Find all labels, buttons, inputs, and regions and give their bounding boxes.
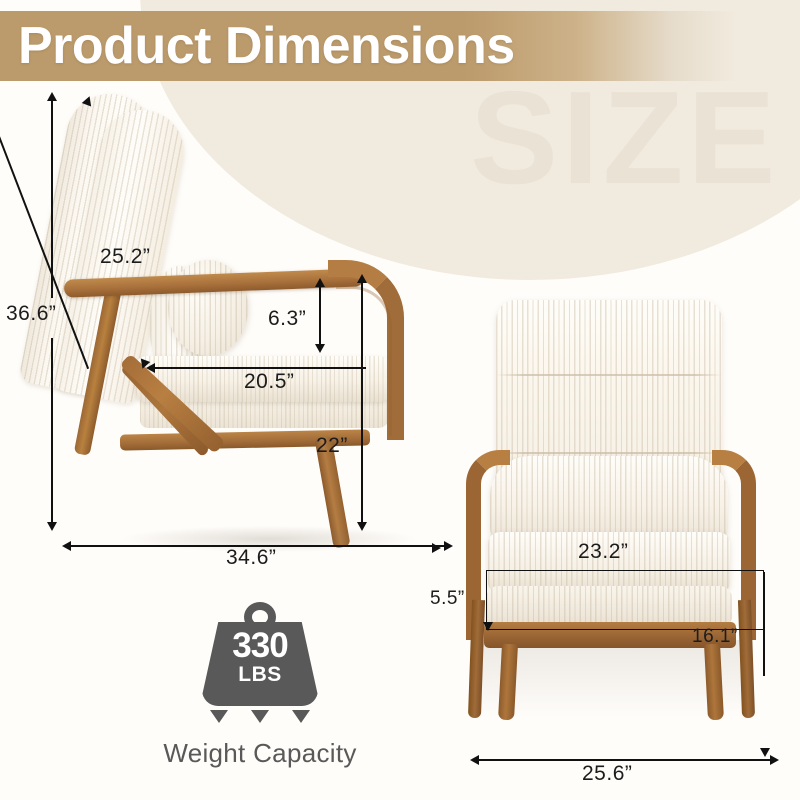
down-triangle-icon [292,710,310,723]
height-line-upper [51,100,53,298]
dim-armrest-height-label: 22” [316,434,348,458]
armrest-height-arrow-top [357,274,367,283]
down-triangle-icon [251,710,269,723]
down-triangle-icon [210,710,228,723]
dim-overall-width-label: 25.6” [582,762,632,786]
side-wood-arm-inner-line [336,286,392,436]
width-arrow-right [770,755,779,765]
backrest-seam [496,452,722,454]
diagram-stage: 36.6” 25.2” 6.3” 20.5” 22” 34.6” [0,0,800,800]
dim-cushion-thickness-label: 5.5” [430,588,465,610]
height-line-lower [51,338,53,524]
armrest-gap-arrow-top [315,278,325,287]
dim-backrest-height-label: 25.2” [100,245,150,269]
dim-armrest-gap-label: 6.3” [268,307,306,331]
dim-overall-height-label: 36.6” [6,302,56,326]
corduroy-ribs-texture [490,456,728,544]
cushion-thickness-arrow [483,622,493,631]
infographic-page: SIZE Product Dimensions 36.6” [0,0,800,800]
weight-icon: 330 LBS [110,600,410,718]
armrest-height-line [361,282,363,524]
dim-seat-width-label: 23.2” [578,540,628,564]
armrest-gap-arrow-bottom [315,344,325,353]
seat-height-line [763,572,765,676]
weight-value: 330 [202,628,318,663]
width-arrow-left [470,755,479,765]
chair-side-view-illustration [28,88,408,548]
height-arrow-top [47,92,57,101]
seat-depth-line [154,367,366,369]
front-lumbar-cushion [490,456,728,544]
dim-overall-depth-label: 34.6” [226,546,276,570]
armrest-height-arrow-bottom [357,522,367,531]
weight-capacity-caption: Weight Capacity [110,738,410,769]
chair-front-view-illustration [462,300,762,720]
width-drop-arrow [760,748,770,757]
dim-seat-height-label: 16.1” [692,626,738,648]
weight-capacity-badge: 330 LBS Weight Capacity [110,600,410,718]
weight-unit: LBS [202,664,318,685]
backrest-seam [496,374,722,376]
height-arrow-bottom [47,522,57,531]
seat-cushion-outline-box [486,570,764,630]
view-connector-arrow [432,543,441,553]
depth-arrow-right [444,541,453,551]
width-line [478,759,774,761]
armrest-gap-line [319,286,321,346]
depth-arrow-left [62,541,71,551]
dim-seat-depth-label: 20.5” [244,370,294,394]
seat-depth-arrow-left [146,363,155,373]
weight-arrows-row [202,710,318,723]
